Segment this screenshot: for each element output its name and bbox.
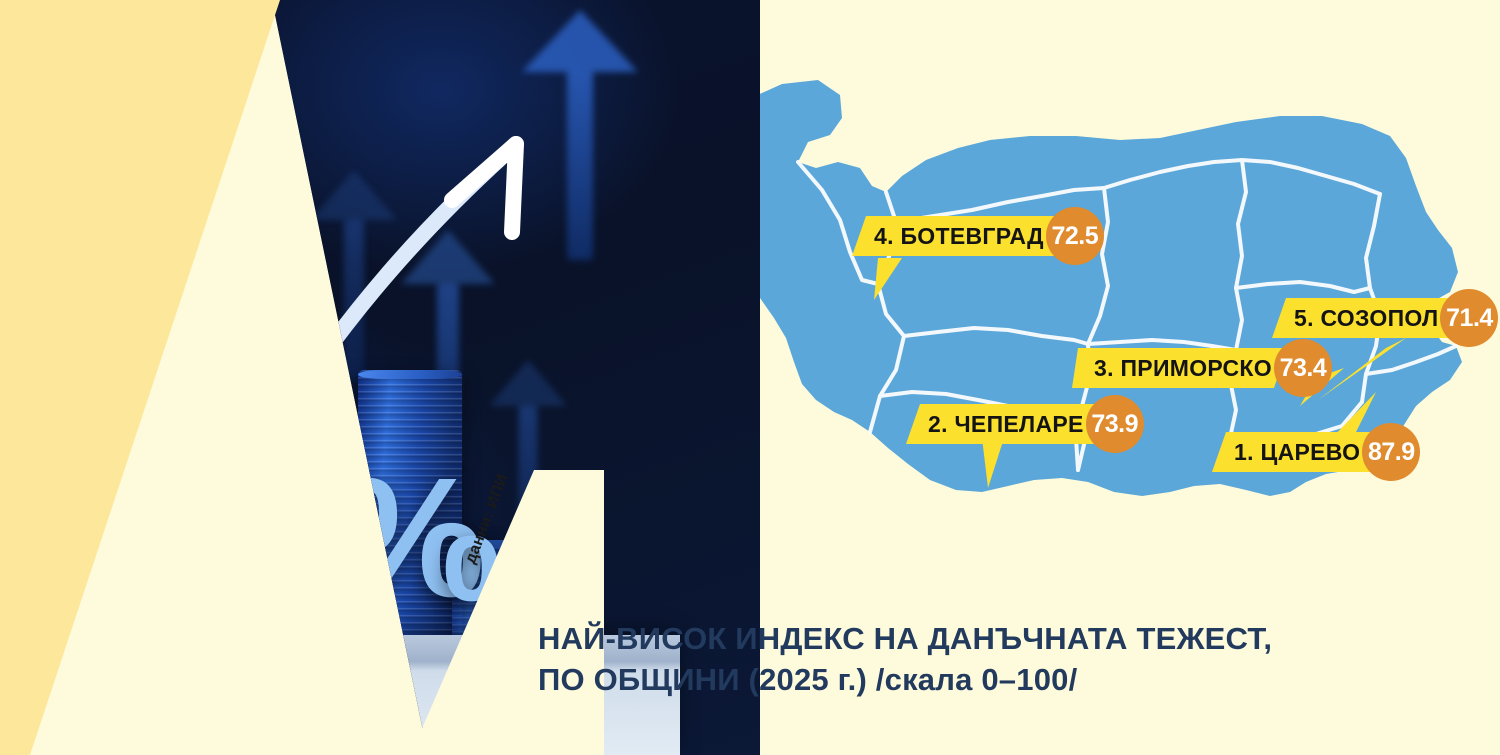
callout-sozopol[interactable]: 5. СОЗОПОЛ 71.4 [1272,298,1498,338]
callout-sozopol-label: 5. СОЗОПОЛ [1272,298,1454,338]
callout-tsarevo[interactable]: 1. ЦАРЕВО 87.9 [1212,432,1420,472]
infographic-canvas: 4. БОТЕВГРАД 72.5 5. СОЗОПОЛ 71.4 3. ПРИ… [0,0,1500,755]
page-title: НАЙ-ВИСОК ИНДЕКС НА ДАНЪЧНАТА ТЕЖЕСТ, ПО… [538,618,1272,700]
callout-botevgrad-label: 4. БОТЕВГРАД [852,216,1060,256]
callout-chepelare[interactable]: 2. ЧЕПЕЛАРЕ 73.9 [906,404,1144,444]
callout-botevgrad-value: 72.5 [1046,207,1104,265]
coin-stack [86,540,174,658]
callout-tsarevo-label: 1. ЦАРЕВО [1212,432,1376,472]
callout-primorsko-value: 73.4 [1274,339,1332,397]
coin-stack [128,468,222,654]
callout-tsarevo-value: 87.9 [1362,423,1420,481]
left-yellow-wedge [0,0,300,755]
callout-botevgrad[interactable]: 4. БОТЕВГРАД 72.5 [852,216,1104,256]
coin-stack [282,500,374,656]
coin [110,612,218,646]
callout-chepelare-label: 2. ЧЕПЕЛАРЕ [906,404,1100,444]
callout-primorsko-label: 3. ПРИМОРСКО [1072,348,1288,388]
callout-primorsko[interactable]: 3. ПРИМОРСКО 73.4 [1072,348,1332,388]
coin-stack [222,430,320,650]
coin [232,620,336,652]
coin-stack [162,560,258,656]
callout-chepelare-value: 73.9 [1086,395,1144,453]
